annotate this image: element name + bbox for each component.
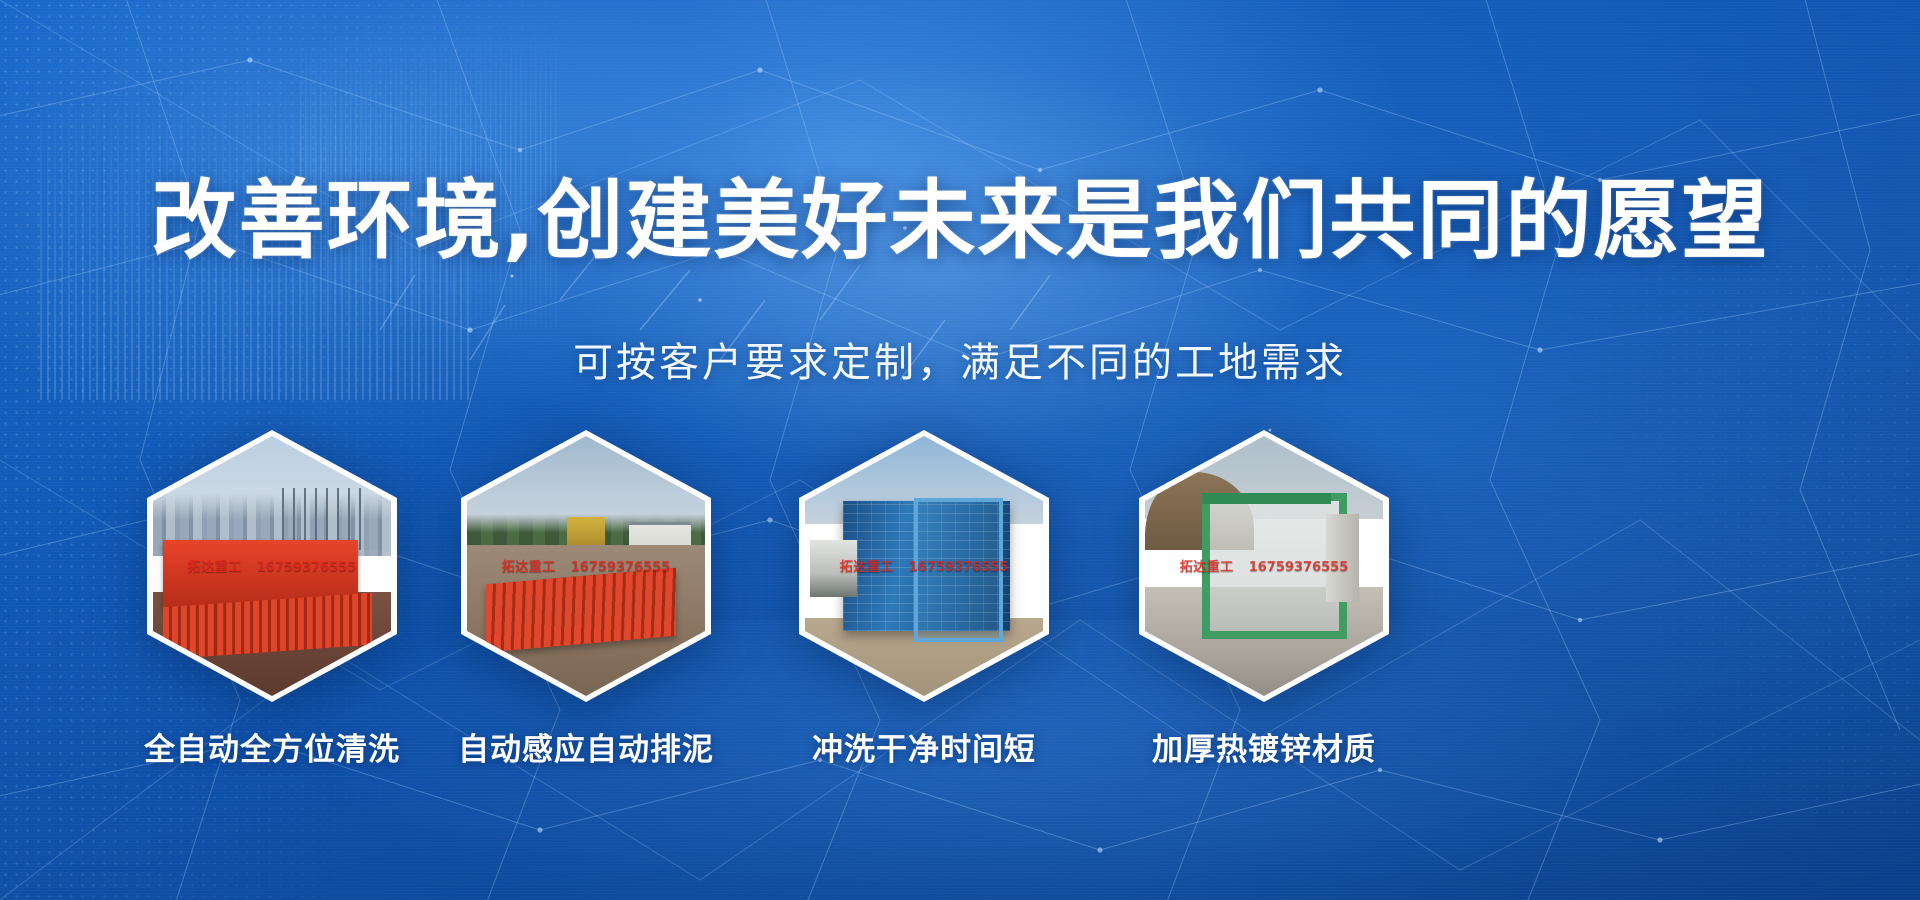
watermark-brand-2: 拓达重工 — [502, 560, 556, 575]
feature-card-4[interactable]: 拓达重工 16759376555 加厚热镀锌材质 — [1130, 430, 1398, 769]
feature-card-row: 拓达重工 16759376555 全自动全方位清洗 拓达重工 — [0, 430, 1920, 760]
feature-card-2[interactable]: 拓达重工 16759376555 自动感应自动排泥 — [452, 430, 720, 769]
hexagon-photo-clip-2: 拓达重工 16759376555 — [467, 436, 705, 696]
hexagon-frame-4[interactable]: 拓达重工 16759376555 — [1139, 430, 1389, 702]
hexagon-frame-1[interactable]: 拓达重工 16759376555 — [147, 430, 397, 702]
banner-headline: 改善环境,创建美好未来是我们共同的愿望 — [0, 150, 1920, 275]
watermark-brand-4: 拓达重工 — [1180, 560, 1234, 575]
watermark-phone-4: 16759376555 — [1249, 560, 1349, 575]
watermark-phone-3: 16759376555 — [909, 560, 1009, 575]
feature-caption-4: 加厚热镀锌材质 — [1130, 724, 1398, 769]
photo-watermark-3: 拓达重工 16759376555 — [805, 556, 1043, 575]
hexagon-photo-clip-1: 拓达重工 16759376555 — [153, 436, 391, 696]
feature-caption-2: 自动感应自动排泥 — [452, 724, 720, 769]
feature-card-3[interactable]: 拓达重工 16759376555 冲洗干净时间短 — [790, 430, 1058, 769]
hexagon-photo-clip-4: 拓达重工 16759376555 — [1145, 436, 1383, 696]
watermark-brand-3: 拓达重工 — [840, 560, 894, 575]
feature-caption-1: 全自动全方位清洗 — [138, 724, 406, 769]
photo-watermark-1: 拓达重工 16759376555 — [153, 556, 391, 575]
watermark-brand-1: 拓达重工 — [188, 560, 242, 575]
watermark-phone-2: 16759376555 — [571, 560, 671, 575]
feature-caption-3: 冲洗干净时间短 — [790, 724, 1058, 769]
photo-watermark-4: 拓达重工 16759376555 — [1145, 556, 1383, 575]
photo-watermark-2: 拓达重工 16759376555 — [467, 556, 705, 575]
banner-subtitle: 可按客户要求定制，满足不同的工地需求 — [0, 330, 1920, 388]
watermark-phone-1: 16759376555 — [257, 560, 357, 575]
hexagon-frame-2[interactable]: 拓达重工 16759376555 — [461, 430, 711, 702]
banner-stage: 改善环境,创建美好未来是我们共同的愿望 可按客户要求定制，满足不同的工地需求 拓… — [0, 0, 1920, 900]
hexagon-photo-clip-3: 拓达重工 16759376555 — [805, 436, 1043, 696]
hexagon-frame-3[interactable]: 拓达重工 16759376555 — [799, 430, 1049, 702]
feature-card-1[interactable]: 拓达重工 16759376555 全自动全方位清洗 — [138, 430, 406, 769]
